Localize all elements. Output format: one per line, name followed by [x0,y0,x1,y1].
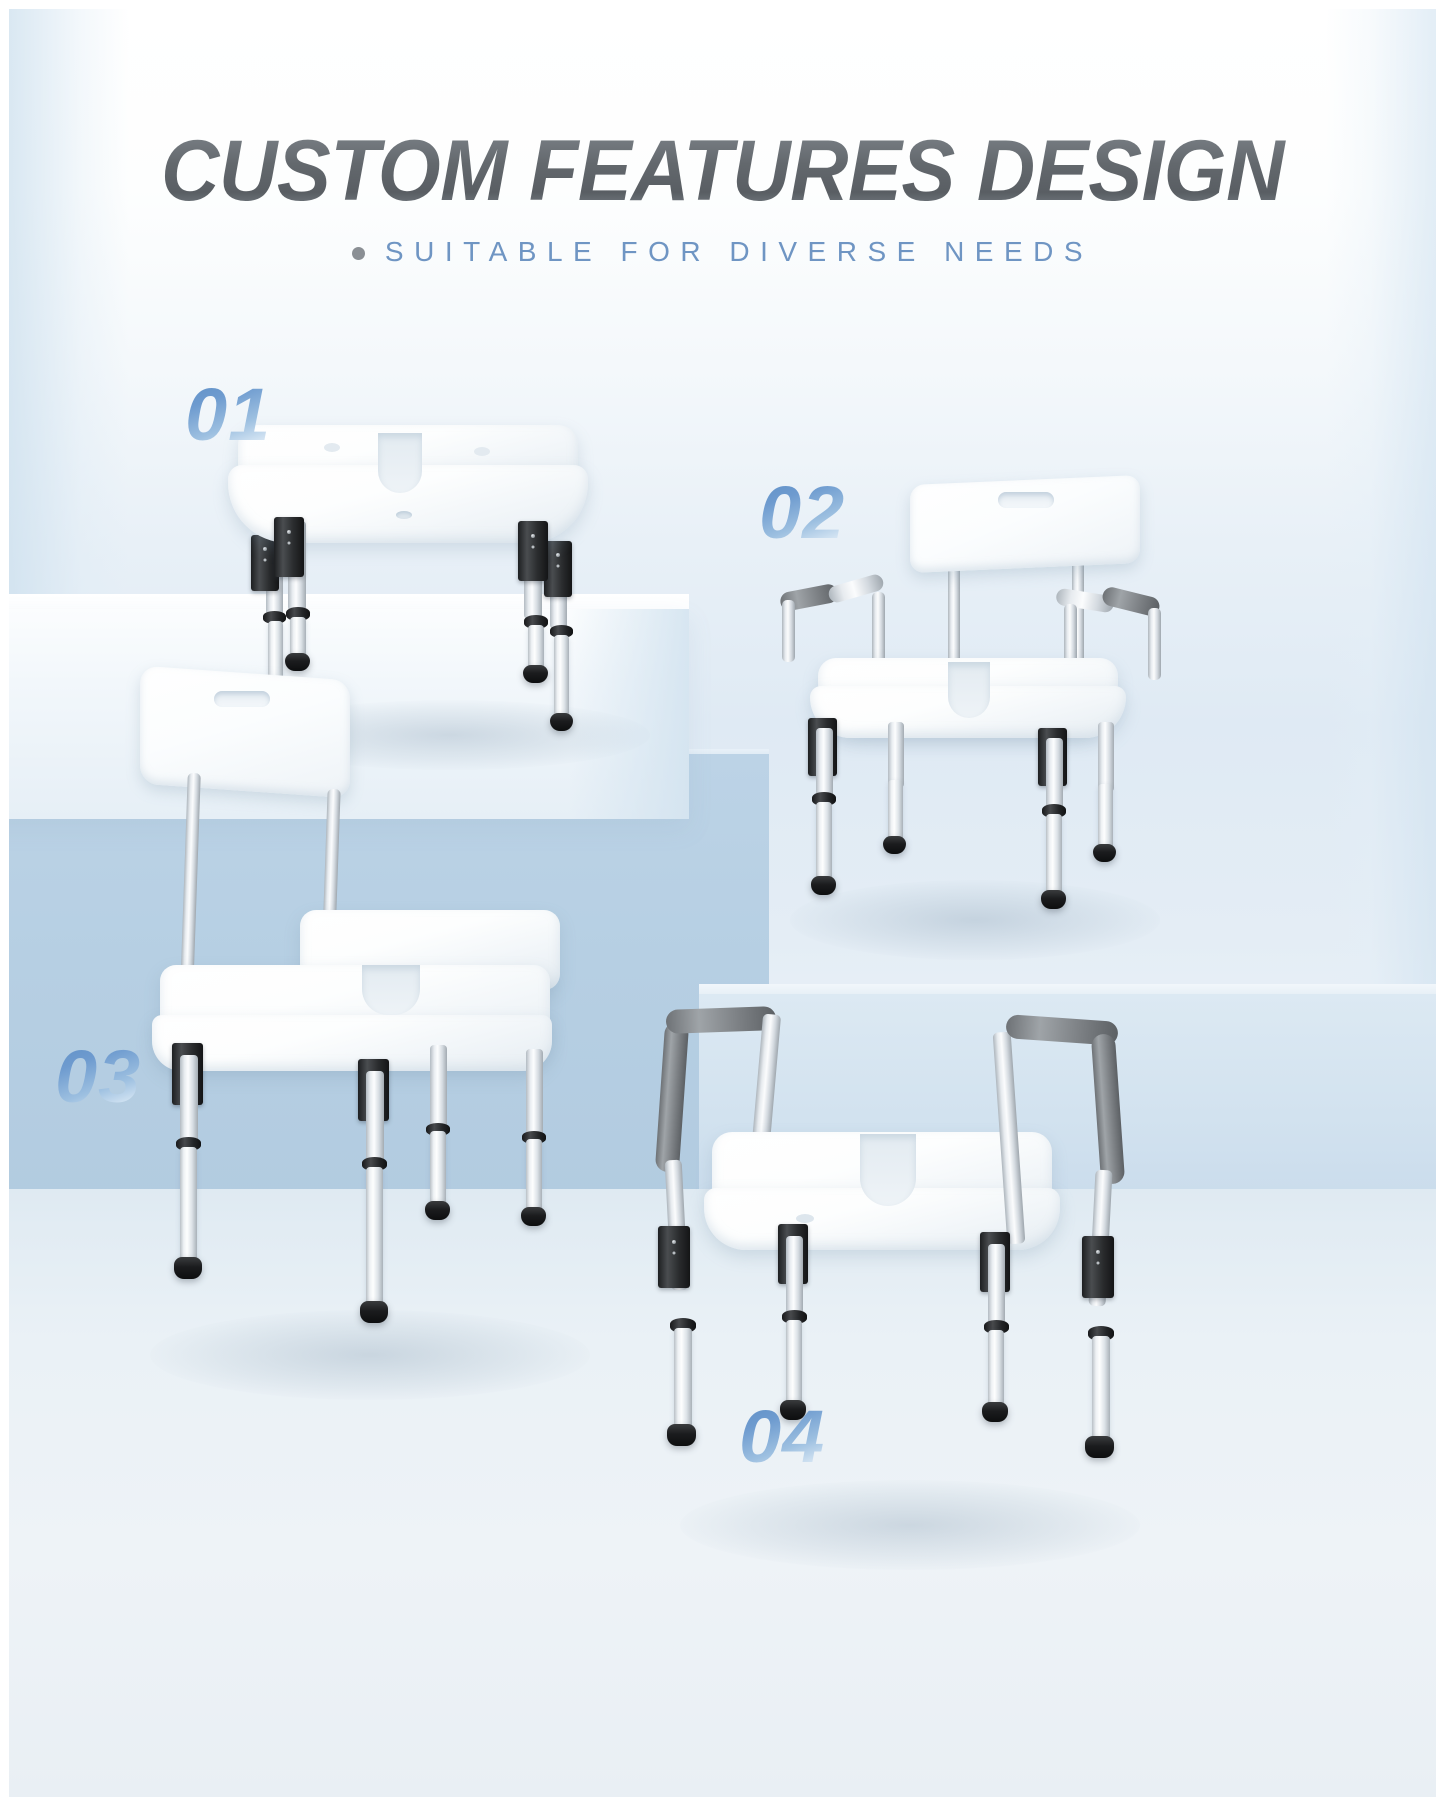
infographic-page: CUSTOM FEATURES DESIGN SUITABLE FOR DIVE… [0,0,1445,1806]
product-02-arm-post-right-inner [1064,604,1077,666]
product-03-leg-front-mid-lower [366,1167,383,1307]
product-02-armrest-right [1052,578,1162,670]
product-03-leg-front-mid-upper [366,1071,384,1165]
product-02-arm-post-left-inner [872,592,885,666]
product-01-detail-hole-left [324,443,340,452]
product-03-foot-front-left [174,1257,202,1279]
product-03-leg-front-left-lower [180,1147,197,1263]
product-02-leg-rear-left-upper [888,722,904,788]
bullet-dot-icon [352,247,365,260]
product-04-leg-rear-left-lower [786,1320,802,1406]
product-03-backrest-handle [214,691,270,707]
product-01-collar-rear-right [544,541,572,597]
product-03-leg-front-left-upper [180,1055,198,1145]
step-number-02: 02 [759,476,845,550]
product-03-shower-chair-with-back [130,665,600,1365]
product-02-arm-post-right [1148,608,1161,680]
product-02-armrest-left [780,574,886,660]
product-02-foot-front-right [1041,890,1066,909]
product-04-foot-rear-right [982,1402,1008,1422]
step-number-01: 01 [185,378,271,452]
product-03-leg-rear-right-lower [526,1139,542,1213]
product-04-shower-chair-with-arms [650,1000,1150,1540]
product-02-arm-post-left [782,600,795,662]
product-03-foot-front-mid [360,1301,388,1323]
product-04-collar-left [658,1226,690,1288]
product-01-collar-front-left [274,517,304,577]
product-01-detail-hole-right [474,447,490,456]
product-02-backrest-handle [998,492,1054,508]
product-03-foot-rear-mid [425,1201,450,1220]
step-number-04: 04 [739,1400,825,1474]
product-04-arm-grip-left [655,1021,689,1172]
product-02-foot-rear-right [1093,844,1116,862]
product-03-seat-cutout [362,965,420,1015]
product-03-seat-front-edge [152,1015,552,1071]
product-04-collar-right [1082,1236,1114,1298]
product-02-leg-front-right-upper [1046,738,1063,810]
product-03-leg-rear-right-upper [526,1049,543,1139]
product-03-leg-rear-mid-upper [430,1045,447,1131]
product-02-leg-rear-left-lower [888,780,903,842]
step-number-03: 03 [55,1040,141,1114]
product-02-backrest [910,475,1140,573]
product-02-leg-rear-right-upper [1098,722,1114,792]
product-02-leg-rear-right-lower [1098,784,1113,850]
product-04-leg-rear-right-lower [988,1330,1004,1408]
product-03-back-post-left [180,773,201,991]
product-04-leg-rear-right-upper [988,1244,1005,1328]
product-04-seat-cutout [860,1134,916,1206]
product-04-arm-grip-right [1091,1033,1125,1184]
product-04-arm-post-right-inner [993,1032,1026,1245]
product-02-leg-front-right-lower [1046,814,1062,896]
product-04-foot-right [1085,1436,1114,1458]
subtitle-row: SUITABLE FOR DIVERSE NEEDS [0,236,1445,268]
product-02-leg-front-left-lower [816,802,832,882]
product-01-drain-hole [396,511,412,519]
product-02-leg-front-left-upper [816,728,833,798]
product-03-foot-rear-right [521,1207,546,1226]
page-title: CUSTOM FEATURES DESIGN [43,128,1401,214]
product-03-leg-rear-mid-lower [430,1131,446,1207]
product-04-leg-rear-left-upper [786,1236,803,1318]
page-subtitle: SUITABLE FOR DIVERSE NEEDS [385,236,1093,268]
product-04-leg-right-lower [1092,1336,1110,1444]
product-03-backrest [140,666,350,799]
product-04-arm-grip-left-top [666,1006,777,1034]
product-02-seat-cutout [948,662,990,718]
product-01-seat-cutout [378,433,422,493]
product-04-drain-hole [796,1214,814,1223]
product-01-collar-front-right [518,521,548,581]
header: CUSTOM FEATURES DESIGN SUITABLE FOR DIVE… [0,0,1445,268]
product-04-leg-left-lower [674,1328,692,1432]
product-04-foot-left [667,1424,696,1446]
product-02-foot-front-left [811,876,836,895]
product-02-foot-rear-left [883,836,906,854]
